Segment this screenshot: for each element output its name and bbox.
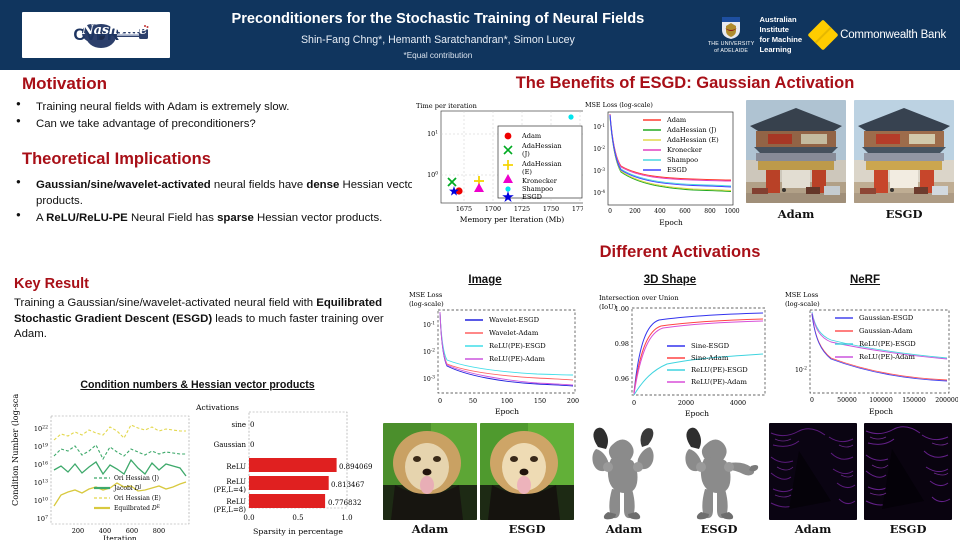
svg-text:800: 800	[704, 208, 716, 215]
svg-text:(E): (E)	[522, 168, 532, 176]
key-result-heading: Key Result	[14, 276, 89, 292]
motivation-bullet-1: Training neural fields with Adam is extr…	[8, 99, 408, 115]
svg-text:0: 0	[250, 441, 254, 449]
svg-text:0.776832: 0.776832	[328, 499, 361, 507]
svg-text:ReLU(PE)-Adam: ReLU(PE)-Adam	[859, 353, 915, 361]
svg-text:1700: 1700	[485, 205, 501, 213]
svg-text:10-1: 10-1	[423, 322, 435, 329]
bar-relu-pe-l8	[249, 494, 325, 508]
aiml-line-3: for Machine	[759, 35, 802, 45]
condition-numbers-title: Condition numbers & Hessian vector produ…	[25, 379, 370, 391]
svg-text:1010: 1010	[34, 496, 48, 505]
svg-text:ReLU(PE)-Adam: ReLU(PE)-Adam	[691, 378, 747, 386]
svg-text:Epoch: Epoch	[869, 407, 893, 416]
benefits-heading: The Benefits of ESGD: Gaussian Activatio…	[410, 74, 960, 93]
key-result-line-1: Training a Gaussian/sine/wavelet-activat…	[14, 297, 290, 309]
svg-text:Epoch: Epoch	[685, 409, 709, 418]
key-result-line-2-pre: with	[293, 297, 316, 309]
bar-relu	[249, 458, 337, 472]
svg-text:0.5: 0.5	[292, 514, 303, 522]
theory-bullets: Gaussian/sine/wavelet-activated neural f…	[8, 177, 420, 228]
aiml-line-2: Institute	[759, 25, 802, 35]
theory-b1-bold: Gaussian/sine/wavelet-activated	[36, 179, 211, 191]
svg-text:0: 0	[250, 421, 254, 429]
scatter-point-shampoo	[568, 114, 573, 119]
shape-adam-result	[578, 423, 670, 520]
svg-text:Iteration: Iteration	[103, 534, 137, 540]
aiml-line-1: Australian	[759, 15, 802, 25]
svg-text:Time per iteration: Time per iteration	[416, 102, 478, 110]
poster-authors: Shin-Fang Chng*, Hemanth Saratchandran*,…	[174, 34, 702, 46]
svg-text:Activations: Activations	[195, 403, 239, 412]
key-result-abbrev: (ESGD)	[172, 313, 212, 325]
svg-text:800: 800	[153, 527, 165, 535]
svg-text:50: 50	[469, 397, 477, 405]
svg-text:1725: 1725	[514, 205, 530, 213]
theory-bullet-1: Gaussian/sine/wavelet-activated neural f…	[8, 177, 420, 209]
svg-text:10-3: 10-3	[593, 167, 605, 175]
shape-adam-caption: Adam	[578, 522, 670, 536]
svg-text:1019: 1019	[34, 442, 48, 451]
svg-text:1013: 1013	[34, 478, 48, 487]
svg-text:Jacobi DJ: Jacobi DJ	[113, 485, 141, 492]
title-block: Preconditioners for the Stochastic Train…	[170, 10, 708, 60]
shape-iou-chart: Intersection over Union (IoU) 1.00 0.98 …	[597, 288, 775, 418]
motivation-bullets: Training neural fields with Adam is extr…	[8, 99, 408, 133]
svg-text:Equilbrated DE: Equilbrated DE	[114, 505, 160, 512]
aiml-line-4: Learning	[759, 45, 802, 55]
time-memory-scatter-chart: Time per iteration 101 100 Adam	[412, 98, 594, 226]
svg-text:Epoch: Epoch	[495, 407, 519, 416]
svg-text:Ori Hessian (E): Ori Hessian (E)	[114, 495, 161, 502]
cba-diamond-icon	[808, 19, 839, 50]
gaussian-adam-caption: Adam	[746, 207, 846, 221]
svg-text:200: 200	[629, 208, 641, 215]
svg-text:Ori Hessian (J): Ori Hessian (J)	[114, 475, 159, 482]
svg-text:Wavelet-ESGD: Wavelet-ESGD	[489, 316, 540, 324]
svg-text:ReLU(PE)-ESGD: ReLU(PE)-ESGD	[859, 340, 916, 348]
svg-text:1.00: 1.00	[615, 305, 629, 313]
svg-text:50000: 50000	[837, 397, 857, 404]
svg-text:Gaussian-Adam: Gaussian-Adam	[859, 327, 913, 335]
svg-text:sine: sine	[232, 421, 246, 429]
svg-text:(PE,L=4): (PE,L=4)	[214, 486, 247, 494]
svg-text:Sparsity in percentage: Sparsity in percentage	[253, 527, 343, 536]
svg-text:Shampoo: Shampoo	[522, 185, 553, 193]
svg-text:AdaHessian: AdaHessian	[521, 142, 562, 150]
theory-b2-bold2: sparse	[217, 212, 254, 224]
svg-text:107: 107	[37, 514, 48, 523]
svg-text:150000: 150000	[902, 397, 926, 404]
sponsor-logos: THE UNIVERSITY of ADELAIDE Australian In…	[708, 15, 946, 54]
svg-text:(log-scale): (log-scale)	[409, 300, 444, 308]
image-adam-result	[383, 423, 477, 520]
cba-logo-text: Commonwealth Bank	[840, 29, 946, 41]
university-of-adelaide-logo: THE UNIVERSITY of ADELAIDE Australian In…	[708, 15, 802, 54]
adelaide-crest-icon	[720, 15, 742, 41]
svg-text:10-2: 10-2	[593, 145, 605, 153]
svg-text:ReLU(PE)-ESGD: ReLU(PE)-ESGD	[489, 342, 546, 350]
svg-text:10-1: 10-1	[593, 123, 605, 131]
svg-text:Gaussian-ESGD: Gaussian-ESGD	[859, 314, 914, 322]
svg-text:100: 100	[501, 397, 513, 405]
svg-text:(PE,L=8): (PE,L=8)	[214, 506, 247, 514]
column-title-3d-shape: 3D Shape	[605, 274, 735, 286]
svg-text:1000: 1000	[724, 208, 739, 215]
svg-text:Adam: Adam	[666, 116, 687, 124]
svg-text:200000: 200000	[935, 397, 958, 404]
svg-text:200: 200	[72, 527, 84, 535]
svg-text:150: 150	[534, 397, 546, 405]
svg-text:1016: 1016	[34, 460, 48, 469]
svg-text:0.813467: 0.813467	[331, 481, 364, 489]
adelaide-line-1: THE UNIVERSITY	[708, 41, 755, 48]
theory-b2-pre: A	[36, 212, 46, 224]
svg-text:1.0: 1.0	[341, 514, 352, 522]
svg-text:Kronecker: Kronecker	[667, 146, 703, 154]
svg-text:MSE Loss (log-scale): MSE Loss (log-scale)	[585, 101, 653, 109]
svg-text:ReLU: ReLU	[226, 498, 246, 506]
column-title-image: Image	[420, 274, 550, 286]
condition-number-chart: Condition Number (log-scale) 107 1010 10…	[6, 394, 196, 540]
svg-text:1750: 1750	[543, 205, 559, 213]
column-title-nerf: NeRF	[800, 274, 930, 286]
poster-title: Preconditioners for the Stochastic Train…	[174, 10, 702, 28]
svg-text:10-3: 10-3	[423, 376, 435, 383]
svg-text:10-2: 10-2	[795, 367, 807, 374]
commonwealth-bank-logo: Commonwealth Bank	[812, 24, 946, 46]
svg-text:600: 600	[679, 208, 691, 215]
svg-text:ReLU(PE)-ESGD: ReLU(PE)-ESGD	[691, 366, 748, 374]
nerf-adam-caption: Adam	[769, 522, 857, 536]
gaussian-esgd-image	[854, 100, 954, 203]
image-esgd-caption: ESGD	[480, 522, 574, 536]
image-esgd-result	[480, 423, 574, 520]
nerf-adam-result	[769, 423, 857, 520]
svg-text:Memory per Iteration (Mb): Memory per Iteration (Mb)	[460, 215, 564, 224]
theory-bullet-2: A ReLU/ReLU-PE Neural Field has sparse H…	[8, 210, 420, 226]
theory-b1-bold2: dense	[306, 179, 339, 191]
svg-text:10-2: 10-2	[423, 349, 435, 356]
svg-text:0.894069: 0.894069	[339, 463, 372, 471]
svg-text:Adam: Adam	[521, 132, 542, 140]
svg-text:Epoch: Epoch	[659, 218, 683, 227]
cvpr-logo-script: Nashville	[82, 23, 147, 38]
scatter-point-kronecker	[474, 183, 484, 192]
equal-contribution-note: *Equal contribution	[174, 51, 702, 60]
scatter-point-adahessian-j	[448, 178, 456, 186]
motivation-heading: Motivation	[22, 74, 107, 94]
svg-text:0.98: 0.98	[615, 340, 629, 348]
image-adam-caption: Adam	[383, 522, 477, 536]
gaussian-mse-loss-chart: MSE Loss (log-scale) 10-1 10-2 10-3 10-4…	[583, 98, 743, 228]
shape-esgd-caption: ESGD	[673, 522, 765, 536]
svg-text:0: 0	[632, 399, 636, 407]
svg-text:Intersection over Union: Intersection over Union	[599, 294, 679, 302]
svg-text:ESGD: ESGD	[667, 166, 687, 174]
key-result-text: Training a Gaussian/sine/wavelet-activat…	[14, 296, 394, 343]
svg-text:AdaHessian (E): AdaHessian (E)	[666, 136, 719, 144]
svg-text:0: 0	[608, 208, 612, 215]
sparsity-bar-chart: Activations sine Gaussian ReLU ReLU (PE,…	[192, 396, 382, 540]
svg-text:AdaHessian (J): AdaHessian (J)	[666, 126, 717, 134]
svg-text:Condition Number (log-scale): Condition Number (log-scale)	[10, 394, 20, 506]
svg-text:ESGD: ESGD	[522, 193, 542, 201]
svg-text:1022: 1022	[34, 424, 48, 433]
theoretical-implications-heading: Theoretical Implications	[22, 150, 211, 169]
svg-text:100000: 100000	[869, 397, 893, 404]
image-mse-loss-chart: MSE Loss (log-scale) 10-1 10-2 10-3 Wave…	[407, 288, 585, 416]
svg-text:Sine-Adam: Sine-Adam	[691, 354, 729, 362]
gaussian-adam-image	[746, 100, 846, 203]
cvpr-logo: CVPR Nashville	[22, 12, 170, 58]
shape-esgd-result	[673, 423, 765, 520]
svg-text:AdaHessian: AdaHessian	[521, 160, 562, 168]
svg-text:0.0: 0.0	[243, 514, 254, 522]
svg-text:1675: 1675	[456, 205, 472, 213]
motivation-bullet-2: Can we take advantage of preconditioners…	[8, 116, 408, 132]
nerf-mse-loss-chart: MSE Loss (log-scale) 10-2 Gaussian-ESGD …	[783, 288, 958, 418]
svg-text:Gaussian: Gaussian	[214, 441, 247, 449]
svg-text:(log-scale): (log-scale)	[785, 300, 820, 308]
poster-header: CVPR Nashville Preconditioners for the S…	[0, 0, 960, 70]
adelaide-line-2: of ADELAIDE	[714, 48, 748, 55]
svg-text:Sine-ESGD: Sine-ESGD	[691, 342, 730, 350]
svg-text:101: 101	[427, 130, 438, 138]
svg-text:MSE Loss: MSE Loss	[785, 291, 819, 299]
svg-text:Wavelet-Adam: Wavelet-Adam	[489, 329, 539, 337]
svg-text:0: 0	[810, 397, 814, 404]
svg-text:ReLU(PE)-Adam: ReLU(PE)-Adam	[489, 355, 545, 363]
svg-text:Kronecker: Kronecker	[522, 177, 558, 185]
svg-text:MSE Loss: MSE Loss	[409, 291, 443, 299]
nerf-esgd-result	[864, 423, 952, 520]
svg-text:400: 400	[654, 208, 666, 215]
different-activations-heading: Different Activations	[400, 243, 960, 262]
svg-text:10-4: 10-4	[593, 189, 605, 197]
svg-text:0.96: 0.96	[615, 375, 629, 383]
svg-text:4000: 4000	[730, 399, 746, 407]
svg-text:(J): (J)	[522, 150, 530, 158]
nerf-esgd-caption: ESGD	[864, 522, 952, 536]
theory-b2-end: Hessian vector products.	[254, 212, 383, 224]
theory-b1-mid: neural fields have	[211, 179, 307, 191]
theory-b2-mid: Neural Field has	[128, 212, 217, 224]
svg-text:ReLU: ReLU	[226, 478, 246, 486]
svg-text:Shampoo: Shampoo	[667, 156, 698, 164]
svg-text:200: 200	[567, 397, 579, 405]
svg-text:ReLU: ReLU	[226, 463, 246, 471]
bar-relu-pe-l4	[249, 476, 329, 490]
theory-b2-bold: ReLU/ReLU-PE	[46, 212, 128, 224]
svg-text:2000: 2000	[678, 399, 694, 407]
svg-text:0: 0	[438, 397, 442, 405]
aiml-logo-text: Australian Institute for Machine Learnin…	[759, 15, 802, 54]
svg-text:100: 100	[427, 171, 438, 179]
gaussian-esgd-caption: ESGD	[854, 207, 954, 221]
